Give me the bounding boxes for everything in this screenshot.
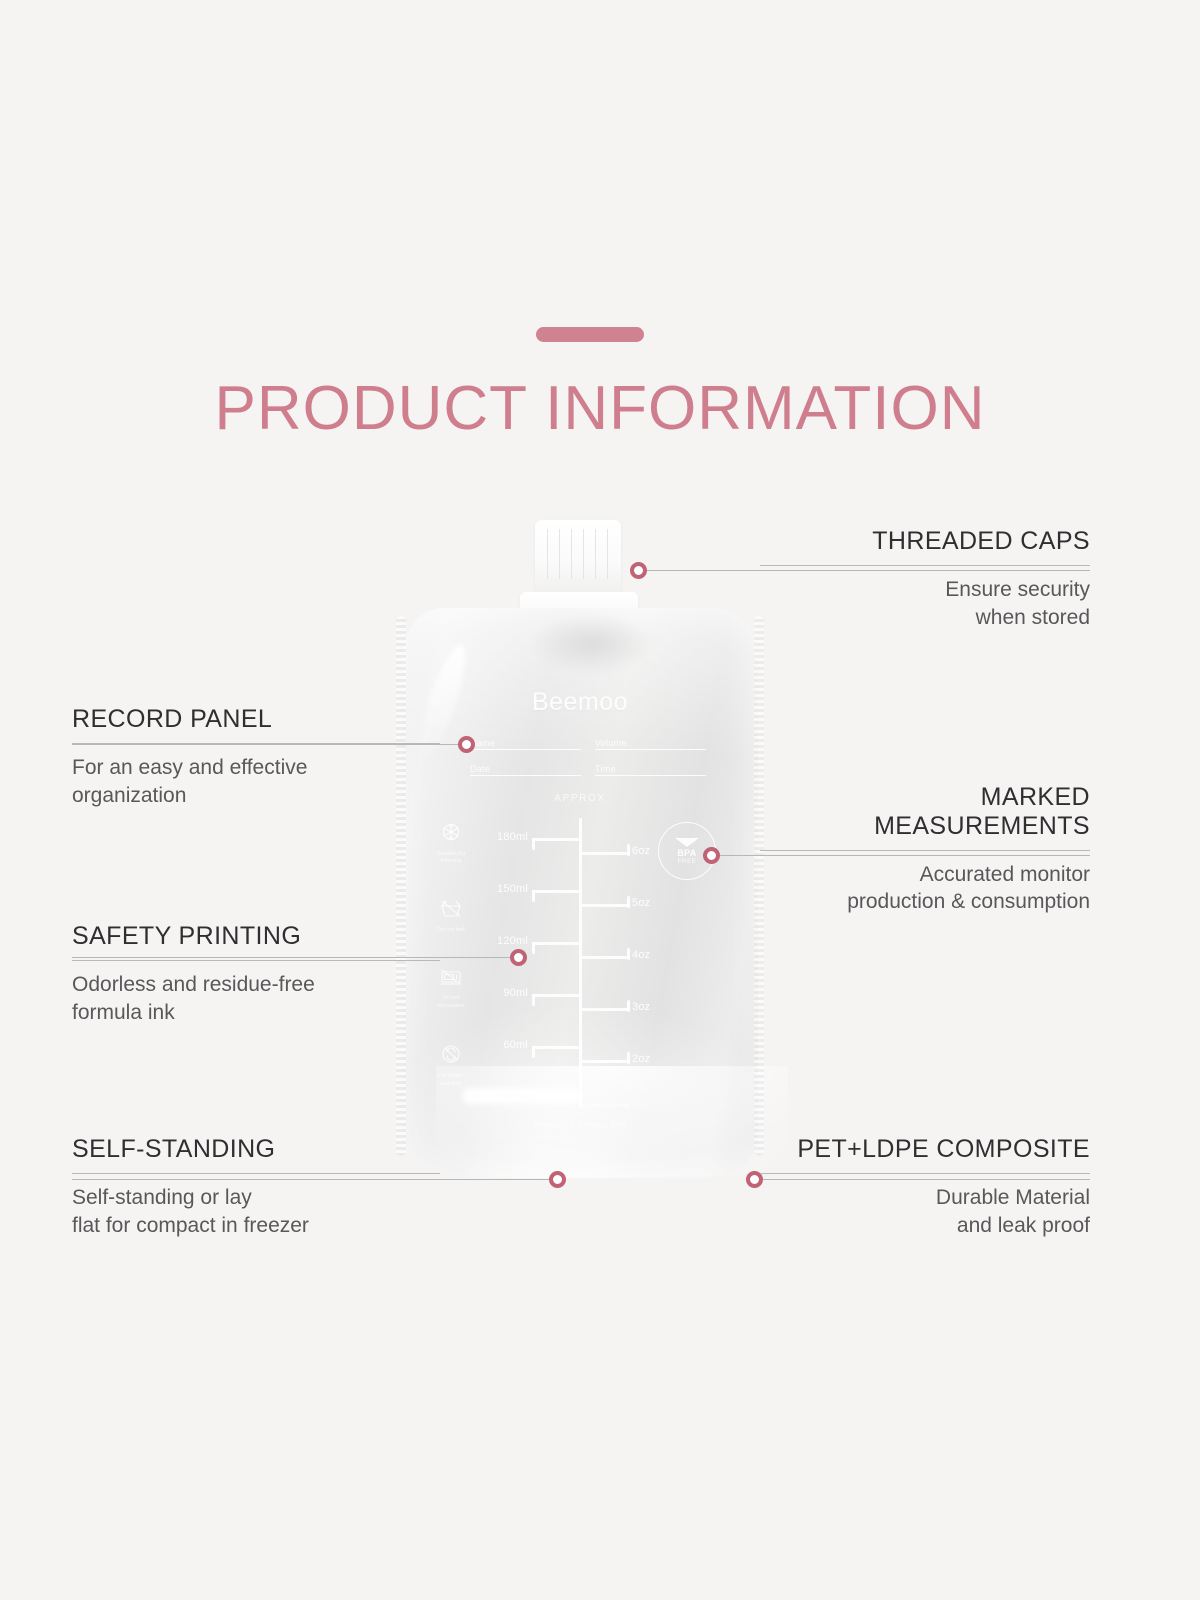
page-title: PRODUCT INFORMATION bbox=[0, 378, 1200, 440]
scale-label-oz: 4oz bbox=[632, 949, 650, 961]
record-field-volume: Volume bbox=[595, 738, 706, 750]
callout-rule bbox=[760, 565, 1090, 566]
callout-description-line: Self-standing or lay bbox=[72, 1184, 440, 1212]
marker-record-panel bbox=[458, 736, 475, 753]
callout-description-line: organization bbox=[72, 782, 440, 810]
callout-title: SELF-STANDING bbox=[72, 1135, 440, 1164]
threaded-cap bbox=[535, 520, 621, 596]
scale-tick-end bbox=[627, 1052, 630, 1064]
record-field-name: Name bbox=[470, 738, 581, 750]
care-label: For singleuse only bbox=[422, 1073, 480, 1088]
callout-description: Ensure security when stored bbox=[760, 576, 1090, 632]
scale-tick-ml bbox=[532, 942, 582, 945]
single-use-icon bbox=[439, 1042, 463, 1066]
callout-marked-measurements: MARKED MEASUREMENTS Accurated monitor pr… bbox=[760, 783, 1090, 916]
scale-tick-oz bbox=[580, 1008, 630, 1011]
callout-description: Self-standing or lay flat for compact in… bbox=[72, 1184, 440, 1240]
marker-self-standing bbox=[549, 1171, 566, 1188]
callout-description-line: and leak proof bbox=[760, 1212, 1090, 1240]
scale-tick-end bbox=[627, 844, 630, 856]
scale-tick-end bbox=[532, 890, 535, 902]
callout-safety-printing: SAFETY PRINTING Odorless and residue-fre… bbox=[72, 922, 440, 1027]
callout-title: MARKED MEASUREMENTS bbox=[760, 783, 1090, 841]
scale-label-oz: 1oz bbox=[632, 1097, 650, 1109]
scale-label-ml: 30ml bbox=[503, 1089, 528, 1101]
scale-tick-oz bbox=[580, 1104, 630, 1107]
scale-tick-end bbox=[532, 1046, 535, 1058]
record-field-underline bbox=[470, 775, 581, 776]
callout-title: RECORD PANEL bbox=[72, 705, 440, 734]
callout-title: THREADED CAPS bbox=[760, 527, 1090, 556]
callout-pet-ldpe-composite: PET+LDPE COMPOSITE Durable Material and … bbox=[760, 1135, 1090, 1240]
marker-marked-measurements bbox=[703, 847, 720, 864]
scale-top-cap bbox=[579, 818, 582, 830]
callout-description-line: Odorless and residue-free bbox=[72, 971, 440, 999]
badge-emblem-icon bbox=[674, 837, 700, 848]
callout-description: Odorless and residue-free formula ink bbox=[72, 971, 440, 1027]
callout-rule bbox=[72, 1173, 440, 1174]
callout-description-line: production & consumption bbox=[760, 888, 1090, 916]
callout-rule bbox=[760, 850, 1090, 851]
marker-safety-printing bbox=[510, 949, 527, 966]
title-accent-bar bbox=[536, 327, 644, 342]
scale-tick-ml bbox=[532, 994, 582, 997]
callout-description-line: when stored bbox=[760, 604, 1090, 632]
pouch-highlight-secondary bbox=[532, 614, 652, 674]
scale-label-ml: 150ml bbox=[497, 883, 528, 895]
scale-tick-oz bbox=[580, 852, 630, 855]
scale-tick-oz bbox=[580, 956, 630, 959]
callout-description-line: Accurated monitor bbox=[760, 861, 1090, 889]
scale-tick-end bbox=[627, 1000, 630, 1012]
callout-description-line: For an easy and effective bbox=[72, 754, 440, 782]
record-row: Name Volume bbox=[470, 738, 706, 750]
bpa-badge-line2: FREE bbox=[678, 858, 697, 865]
callout-description-line: flat for compact in freezer bbox=[72, 1212, 440, 1240]
scale-tick-end bbox=[627, 896, 630, 908]
callout-self-standing: SELF-STANDING Self-standing or lay flat … bbox=[72, 1135, 440, 1240]
scale-tick-ml bbox=[532, 890, 582, 893]
snowflake-icon bbox=[439, 820, 463, 844]
record-row: Date Time bbox=[470, 764, 706, 776]
callout-title: SAFETY PRINTING bbox=[72, 922, 440, 951]
product-information-infographic: PRODUCT INFORMATION Beemoo Name bbox=[0, 0, 1200, 1600]
scale-label-oz: 6oz bbox=[632, 845, 650, 857]
callout-description-line: Ensure security bbox=[760, 576, 1090, 604]
scale-tick-ml bbox=[532, 838, 582, 841]
callout-description-line: Durable Material bbox=[760, 1184, 1090, 1212]
scale-label-oz: 5oz bbox=[632, 897, 650, 909]
no-microwave-icon bbox=[438, 966, 464, 988]
product-pouch-image: Beemoo Name Volume Date Time bbox=[370, 520, 790, 1200]
record-field-underline bbox=[595, 749, 706, 750]
record-field-date: Date bbox=[470, 764, 581, 776]
care-label: Suitable forfreezing bbox=[422, 851, 480, 866]
callout-description: Accurated monitor production & consumpti… bbox=[760, 861, 1090, 917]
callout-rule bbox=[72, 960, 440, 961]
measurement-scale: 180ml 6oz 150ml 5oz 120ml 4oz 90ml 3 bbox=[480, 818, 680, 1108]
callout-rule bbox=[760, 1173, 1090, 1174]
scale-tick-ml bbox=[532, 1096, 582, 1099]
scale-tick-end bbox=[532, 942, 535, 954]
scale-label-oz: 2oz bbox=[632, 1053, 650, 1065]
scale-label-ml: 180ml bbox=[497, 831, 528, 843]
scale-spine bbox=[579, 822, 582, 1108]
callout-description: For an easy and effective organization bbox=[72, 754, 440, 810]
care-item-single-use: For singleuse only bbox=[422, 1042, 480, 1088]
callout-description: Durable Material and leak proof bbox=[760, 1184, 1090, 1240]
scale-label-oz: 3oz bbox=[632, 1001, 650, 1013]
no-boiling-icon bbox=[438, 898, 464, 920]
scale-tick-end bbox=[532, 994, 535, 1006]
record-panel-print: Name Volume Date Time bbox=[470, 738, 706, 790]
callout-record-panel: RECORD PANEL For an easy and effective o… bbox=[72, 705, 440, 810]
callout-title: PET+LDPE COMPOSITE bbox=[760, 1135, 1090, 1164]
callout-description-line: formula ink bbox=[72, 999, 440, 1027]
scale-tick-end bbox=[532, 838, 535, 850]
scale-tick-ml bbox=[532, 1046, 582, 1049]
scale-label-ml: 90ml bbox=[503, 987, 528, 999]
pouch-footer-print: Breastmilk Storage Bag bbox=[370, 1120, 790, 1129]
scale-label-ml: 120ml bbox=[497, 935, 528, 947]
record-field-underline bbox=[470, 749, 581, 750]
scale-tick-oz bbox=[580, 904, 630, 907]
scale-tick-end bbox=[627, 948, 630, 960]
callout-threaded-caps: THREADED CAPS Ensure security when store… bbox=[760, 527, 1090, 632]
marker-threaded-caps bbox=[630, 562, 647, 579]
record-field-underline bbox=[595, 775, 706, 776]
scale-tick-oz bbox=[580, 1060, 630, 1063]
care-item-freezer: Suitable forfreezing bbox=[422, 820, 480, 866]
scale-label-ml: 60ml bbox=[503, 1039, 528, 1051]
record-field-time: Time bbox=[595, 764, 706, 776]
bpa-badge-line1: BPA bbox=[677, 848, 696, 858]
callout-rule bbox=[72, 743, 440, 744]
